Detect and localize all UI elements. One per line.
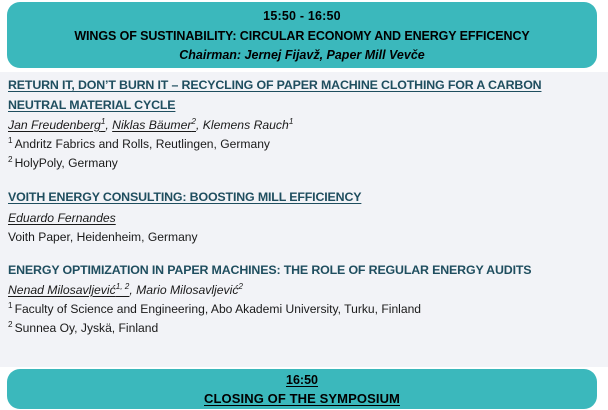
affiliation-marker: 2 (8, 155, 13, 164)
talk-authors: Eduardo Fernandes (8, 209, 598, 228)
author-name: Eduardo Fernandes (8, 211, 116, 225)
closing-banner: 16:50 CLOSING OF THE SYMPOSIUM (7, 369, 597, 409)
talk-authors: Nenad Milosavljević1, 2, Mario Milosavlj… (8, 281, 598, 300)
affiliation-text: HolyPoly, Germany (15, 156, 118, 170)
talk-affiliation: Voith Paper, Heidenheim, Germany (8, 228, 598, 247)
author-affiliation-marker: 1, 2 (116, 282, 130, 291)
author-name: Klemens Rauch1 (203, 118, 294, 132)
author-affiliation-marker: 2 (191, 117, 196, 126)
author-affiliation-marker: 1 (289, 117, 294, 126)
section-spacer (8, 247, 598, 261)
author-name: Nenad Milosavljević1, 2 (8, 283, 129, 297)
session-header-banner: 15:50 - 16:50 WINGS OF SUSTINABILITY: CI… (7, 2, 597, 68)
session-title: WINGS OF SUSTINABILITY: CIRCULAR ECONOMY… (7, 26, 597, 46)
talk-title: VOITH ENERGY CONSULTING: BOOSTING MILL E… (8, 188, 568, 208)
affiliation-marker: 2 (8, 320, 13, 329)
talk-entry: ENERGY OPTIMIZATION IN PAPER MACHINES: T… (8, 261, 598, 339)
author-name: Mario Milosavljević2 (136, 283, 243, 297)
affiliation-marker: 1 (8, 136, 13, 145)
talk-authors: Jan Freudenberg1, Niklas Bäumer2, Klemen… (8, 116, 598, 135)
author-name: Niklas Bäumer2 (112, 118, 196, 132)
talks-panel: RETURN IT, DON’T BURN IT – RECYCLING OF … (0, 72, 608, 367)
talk-affiliation: 2Sunnea Oy, Jyskä, Finland (8, 319, 598, 338)
author-name: Jan Freudenberg1 (8, 118, 105, 132)
symposium-programme-page: 15:50 - 16:50 WINGS OF SUSTINABILITY: CI… (0, 0, 608, 410)
section-spacer (8, 173, 598, 188)
talk-affiliation: 1Andritz Fabrics and Rolls, Reutlingen, … (8, 135, 598, 154)
session-chairman: Chairman: Jernej Fijavž, Paper Mill Vevč… (7, 46, 597, 65)
affiliation-text: Faculty of Science and Engineering, Abo … (15, 302, 421, 316)
talk-entry: VOITH ENERGY CONSULTING: BOOSTING MILL E… (8, 188, 598, 247)
affiliation-text: Andritz Fabrics and Rolls, Reutlingen, G… (15, 137, 270, 151)
talk-title: ENERGY OPTIMIZATION IN PAPER MACHINES: T… (8, 261, 568, 281)
talk-affiliation: 2HolyPoly, Germany (8, 154, 598, 173)
author-affiliation-marker: 1 (101, 117, 106, 126)
affiliation-text: Sunnea Oy, Jyskä, Finland (15, 321, 159, 335)
talk-affiliation: 1Faculty of Science and Engineering, Abo… (8, 300, 598, 319)
closing-label: CLOSING OF THE SYMPOSIUM (7, 389, 597, 408)
talk-title: RETURN IT, DON’T BURN IT – RECYCLING OF … (8, 76, 568, 115)
author-affiliation-marker: 2 (238, 282, 243, 291)
closing-time: 16:50 (7, 371, 597, 389)
affiliation-text: Voith Paper, Heidenheim, Germany (8, 230, 198, 244)
affiliation-marker: 1 (8, 301, 13, 310)
talk-entry: RETURN IT, DON’T BURN IT – RECYCLING OF … (8, 76, 598, 173)
session-time: 15:50 - 16:50 (7, 7, 597, 26)
